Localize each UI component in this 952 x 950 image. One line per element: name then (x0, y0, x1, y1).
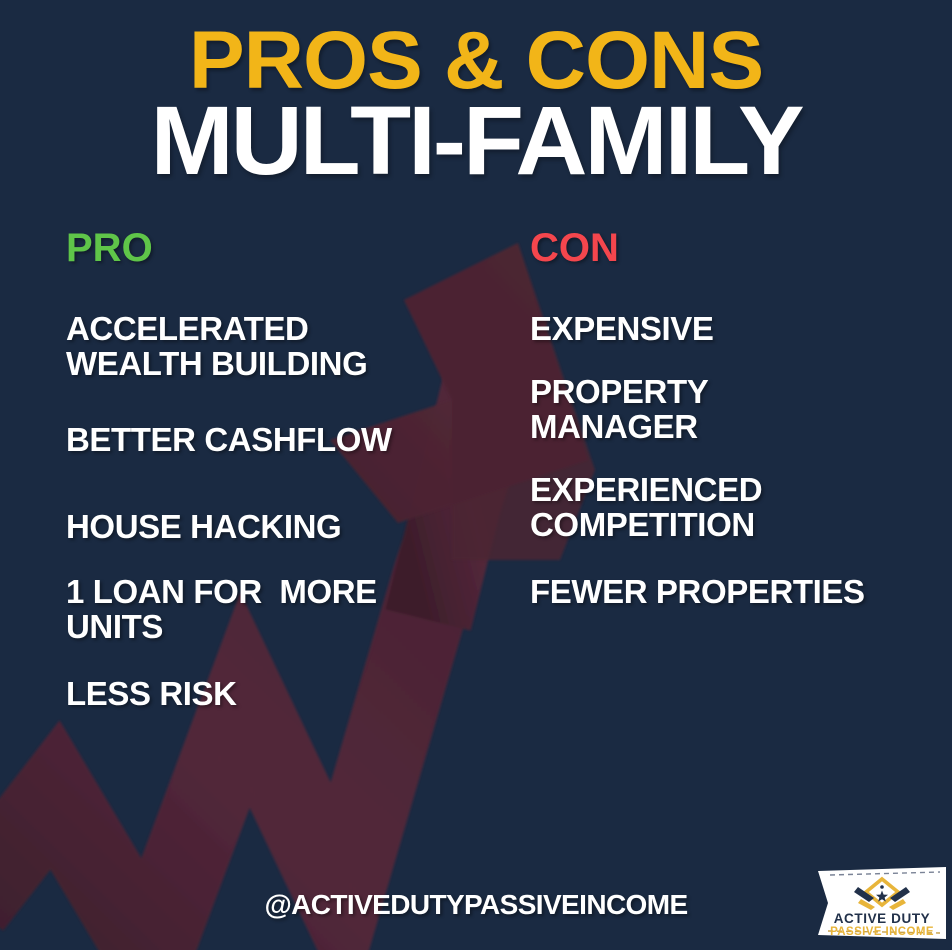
pro-item-1: ACCELERATED WEALTH BUILDING (66, 312, 466, 382)
active-duty-passive-income-logo: ACTIVE DUTY PASSIVE INCOME (818, 865, 946, 943)
pro-item-5: LESS RISK (66, 677, 466, 712)
pro-item-3: HOUSE HACKING (66, 510, 466, 545)
headline-block: PROS & CONS MULTI-FAMILY (0, 22, 952, 185)
pro-column: PRO ACCELERATED WEALTH BUILDING BETTER C… (66, 228, 466, 744)
infographic-canvas: PROS & CONS MULTI-FAMILY PRO ACCELERATED… (0, 0, 952, 950)
con-item-4: FEWER PROPERTIES (530, 575, 940, 610)
con-item-3: EXPERIENCED COMPETITION (530, 473, 940, 543)
pro-item-4: 1 LOAN FOR MORE UNITS (66, 575, 466, 645)
page-title: MULTI-FAMILY (0, 96, 952, 185)
con-column-header: CON (530, 228, 940, 268)
logo-line1: ACTIVE DUTY (834, 911, 931, 926)
pro-item-2: BETTER CASHFLOW (66, 423, 466, 458)
con-column: CON EXPENSIVE PROPERTY MANAGER EXPERIENC… (530, 228, 940, 642)
logo-pip-icon (880, 885, 884, 889)
social-handle: @ACTIVEDUTYPASSIVEINCOME (0, 889, 952, 921)
con-item-2: PROPERTY MANAGER (530, 375, 940, 445)
con-item-1: EXPENSIVE (530, 312, 940, 347)
pro-column-header: PRO (66, 228, 466, 268)
logo-line2: PASSIVE INCOME (830, 926, 934, 938)
